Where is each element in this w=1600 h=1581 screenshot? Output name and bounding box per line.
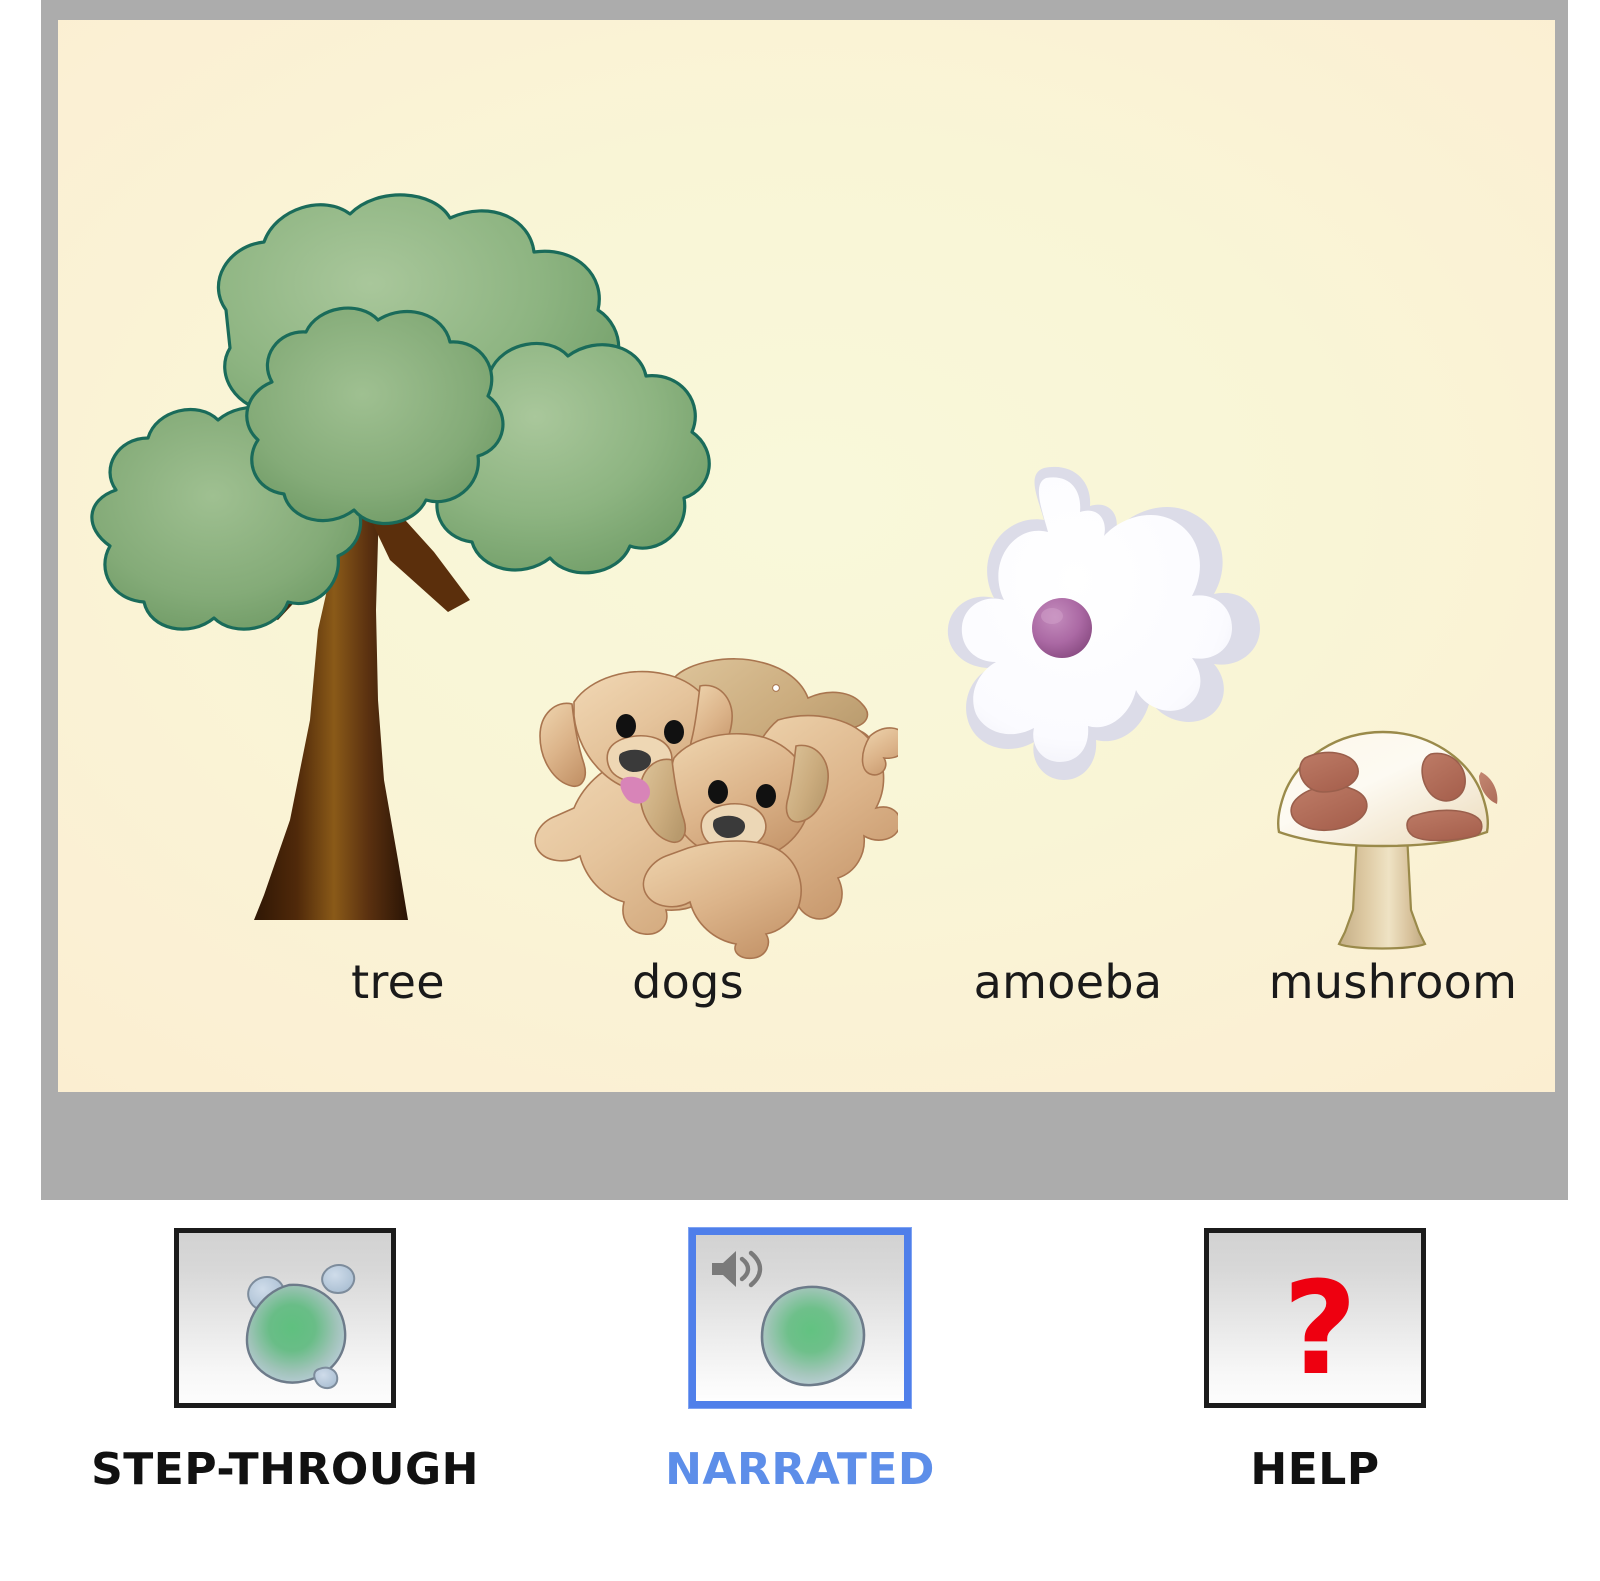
amoeba-illustration	[868, 460, 1268, 840]
specimen-label-dogs: dogs	[478, 955, 898, 1009]
specimen-label-mushroom: mushroom	[1233, 955, 1553, 1009]
mushroom-illustration	[1253, 710, 1513, 960]
narrated-button[interactable]	[689, 1228, 911, 1408]
control-bar: STEP-THROUGH	[0, 1200, 1600, 1581]
step-through-button[interactable]	[174, 1228, 396, 1408]
control-narrated[interactable]: NARRATED	[575, 1228, 1025, 1495]
narrated-label: NARRATED	[575, 1444, 1025, 1495]
help-question-glyph: ?	[1283, 1255, 1357, 1403]
control-help[interactable]: ? HELP	[1090, 1228, 1540, 1495]
specimen-mushroom[interactable]: mushroom	[1233, 710, 1553, 1000]
help-button[interactable]: ?	[1204, 1228, 1426, 1408]
specimen-label-amoeba: amoeba	[868, 955, 1268, 1009]
illustration-canvas: tree	[58, 20, 1555, 1092]
cell-dividing-icon	[179, 1233, 391, 1403]
specimen-dogs[interactable]: dogs	[478, 640, 898, 1000]
cell-icon	[696, 1235, 904, 1401]
amoeba-nucleus	[1032, 598, 1092, 658]
application-root: tree	[0, 0, 1600, 1581]
two-puppies-illustration	[478, 640, 898, 960]
stage-frame: tree	[41, 0, 1568, 1200]
specimen-amoeba[interactable]: amoeba	[868, 460, 1268, 1000]
control-step-through[interactable]: STEP-THROUGH	[60, 1228, 510, 1495]
question-mark-icon: ?	[1209, 1233, 1421, 1403]
step-through-label: STEP-THROUGH	[60, 1444, 510, 1495]
help-label: HELP	[1090, 1444, 1540, 1495]
